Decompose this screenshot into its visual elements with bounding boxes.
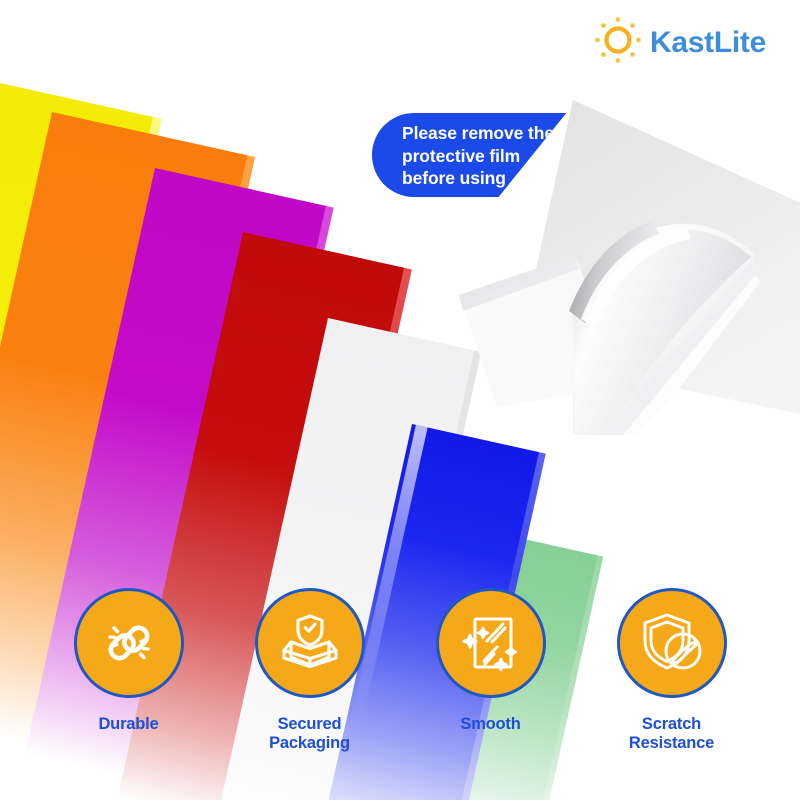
glass-sparkle-icon: [459, 611, 523, 675]
chain-link-icon: [97, 611, 161, 675]
brand-logo: KastLite: [592, 14, 766, 71]
feature-badge-circle: [255, 588, 365, 698]
feature-badge-row: Durable Secured Packaging: [0, 588, 800, 754]
feature-label: Durable: [98, 715, 158, 734]
feature-badge-circle: [74, 588, 184, 698]
feature-smooth: Smooth: [436, 588, 546, 754]
clear-acrylic-sheet-with-peeling-film: [455, 55, 800, 435]
feature-badge-circle: [617, 588, 727, 698]
feature-label: Scratch Resistance: [629, 715, 714, 754]
feature-scratch-resistance: Scratch Resistance: [617, 588, 727, 754]
feature-badge-circle: [436, 588, 546, 698]
callout-text: Please remove the protective film before…: [402, 122, 592, 190]
feature-secured-packaging: Secured Packaging: [255, 588, 365, 754]
feature-label: Secured Packaging: [269, 715, 350, 754]
feature-durable: Durable: [74, 588, 184, 754]
shield-blade-icon: [639, 610, 705, 676]
instruction-callout: Please remove the protective film before…: [372, 113, 598, 197]
product-infographic: KastLite Please remove the protective fi…: [0, 0, 800, 800]
secured-box-icon: [277, 610, 343, 676]
brand-name: KastLite: [650, 28, 766, 58]
sun-icon: [592, 14, 644, 71]
feature-label: Smooth: [460, 715, 520, 734]
